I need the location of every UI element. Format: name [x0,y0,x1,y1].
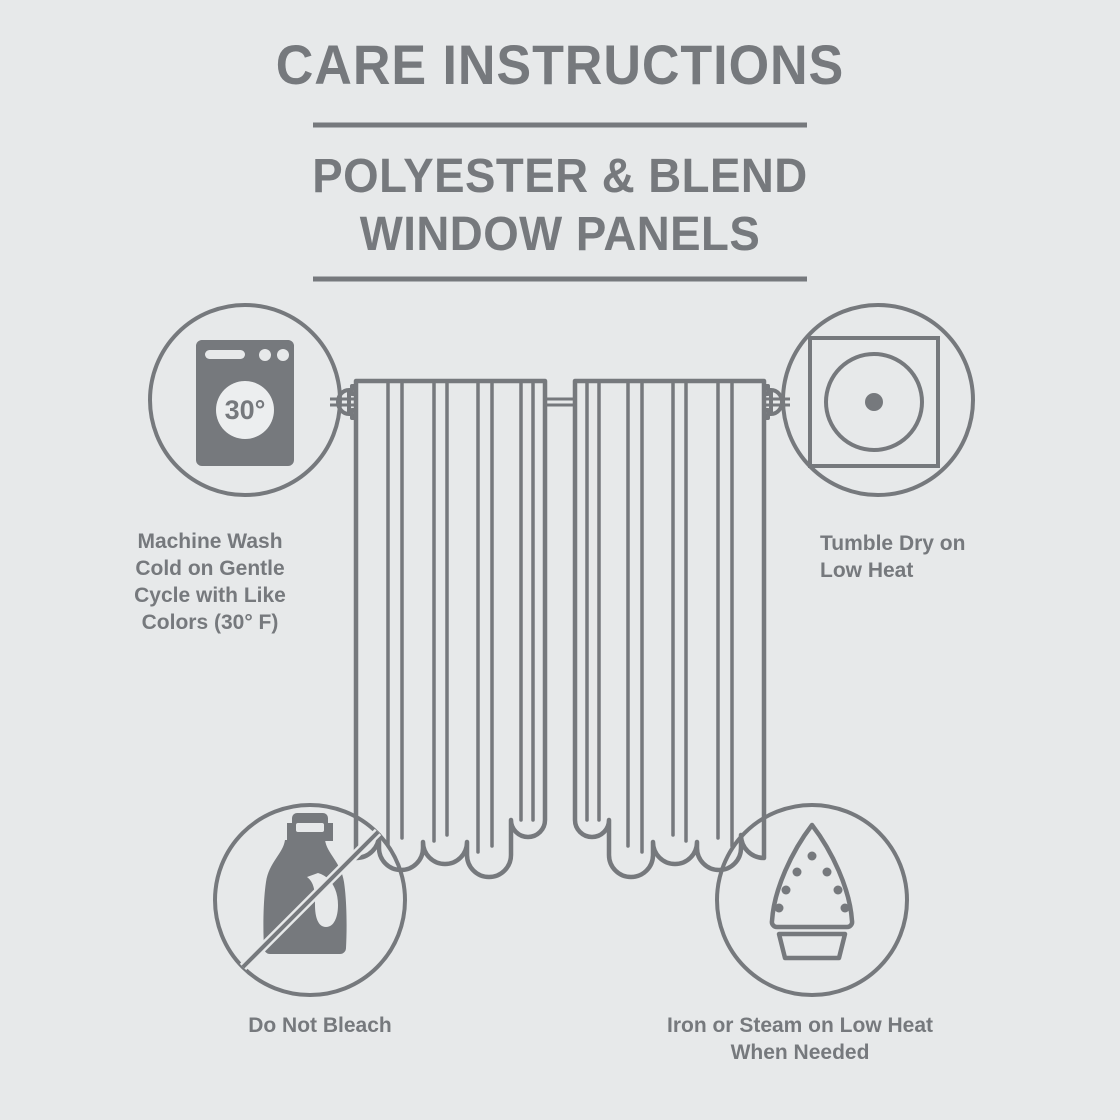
caption-machine-wash: Machine Wash Cold on Gentle Cycle with L… [60,528,360,636]
iron-icon [772,825,852,958]
curtain-panel-left [356,381,545,877]
caption-do-not-bleach: Do Not Bleach [170,1012,470,1039]
curtain-panel-right [575,381,764,877]
page-subtitle: POLYESTER & BLENDWINDOW PANELS [28,148,1092,264]
caption-iron: Iron or Steam on Low Heat When Needed [600,1012,1000,1066]
symbol-do-not-bleach [215,805,405,995]
machine-wash-badge-label: 30° [225,395,266,425]
symbol-machine-wash: 30° [150,305,340,495]
tumble-dry-low-icon [810,338,938,466]
symbol-iron [717,805,907,995]
caption-tumble-dry: Tumble Dry on Low Heat [820,530,1080,584]
subtitle-line-2: WINDOW PANELS [360,208,760,261]
page-title: CARE INSTRUCTIONS [39,32,1081,97]
care-instructions-infographic: 30° [0,0,1120,1120]
symbol-tumble-dry [783,305,973,495]
subtitle-line-1: POLYESTER & BLEND [312,150,807,203]
